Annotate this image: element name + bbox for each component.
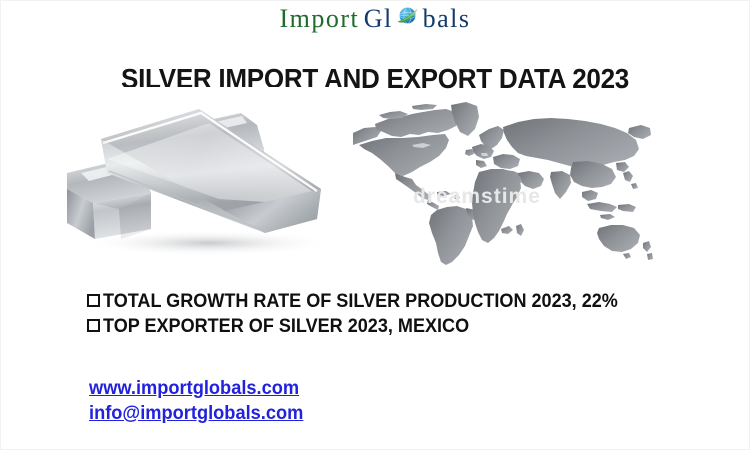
email-link[interactable]: info@importglobals.com <box>89 401 303 426</box>
globe-icon <box>397 5 418 26</box>
bullet-label-growth-rate: TOTAL GROWTH RATE OF SILVER PRODUCTION 2… <box>103 289 618 314</box>
bullet-label-top-exporter: TOP EXPORTER OF SILVER 2023, MEXICO <box>103 314 469 339</box>
list-item: TOP EXPORTER OF SILVER 2023, MEXICO <box>87 314 707 339</box>
contact-block: www.importglobals.com info@importglobals… <box>89 376 312 426</box>
silver-bars-image <box>59 87 349 259</box>
hollow-square-bullet-icon <box>87 319 100 332</box>
logo-text-import: Import <box>279 4 359 33</box>
logo-text-gl: Gl <box>364 4 393 33</box>
stats-bullet-list: TOTAL GROWTH RATE OF SILVER PRODUCTION 2… <box>87 289 707 339</box>
hollow-square-bullet-icon <box>87 294 100 307</box>
world-map-image: dreamstime <box>353 97 653 265</box>
poster-canvas: Import Gl <box>0 0 750 450</box>
brand-logo[interactable]: Import Gl <box>1 5 749 32</box>
list-item: TOTAL GROWTH RATE OF SILVER PRODUCTION 2… <box>87 289 707 314</box>
logo-text-bals: bals <box>423 4 471 33</box>
website-link[interactable]: www.importglobals.com <box>89 376 303 401</box>
